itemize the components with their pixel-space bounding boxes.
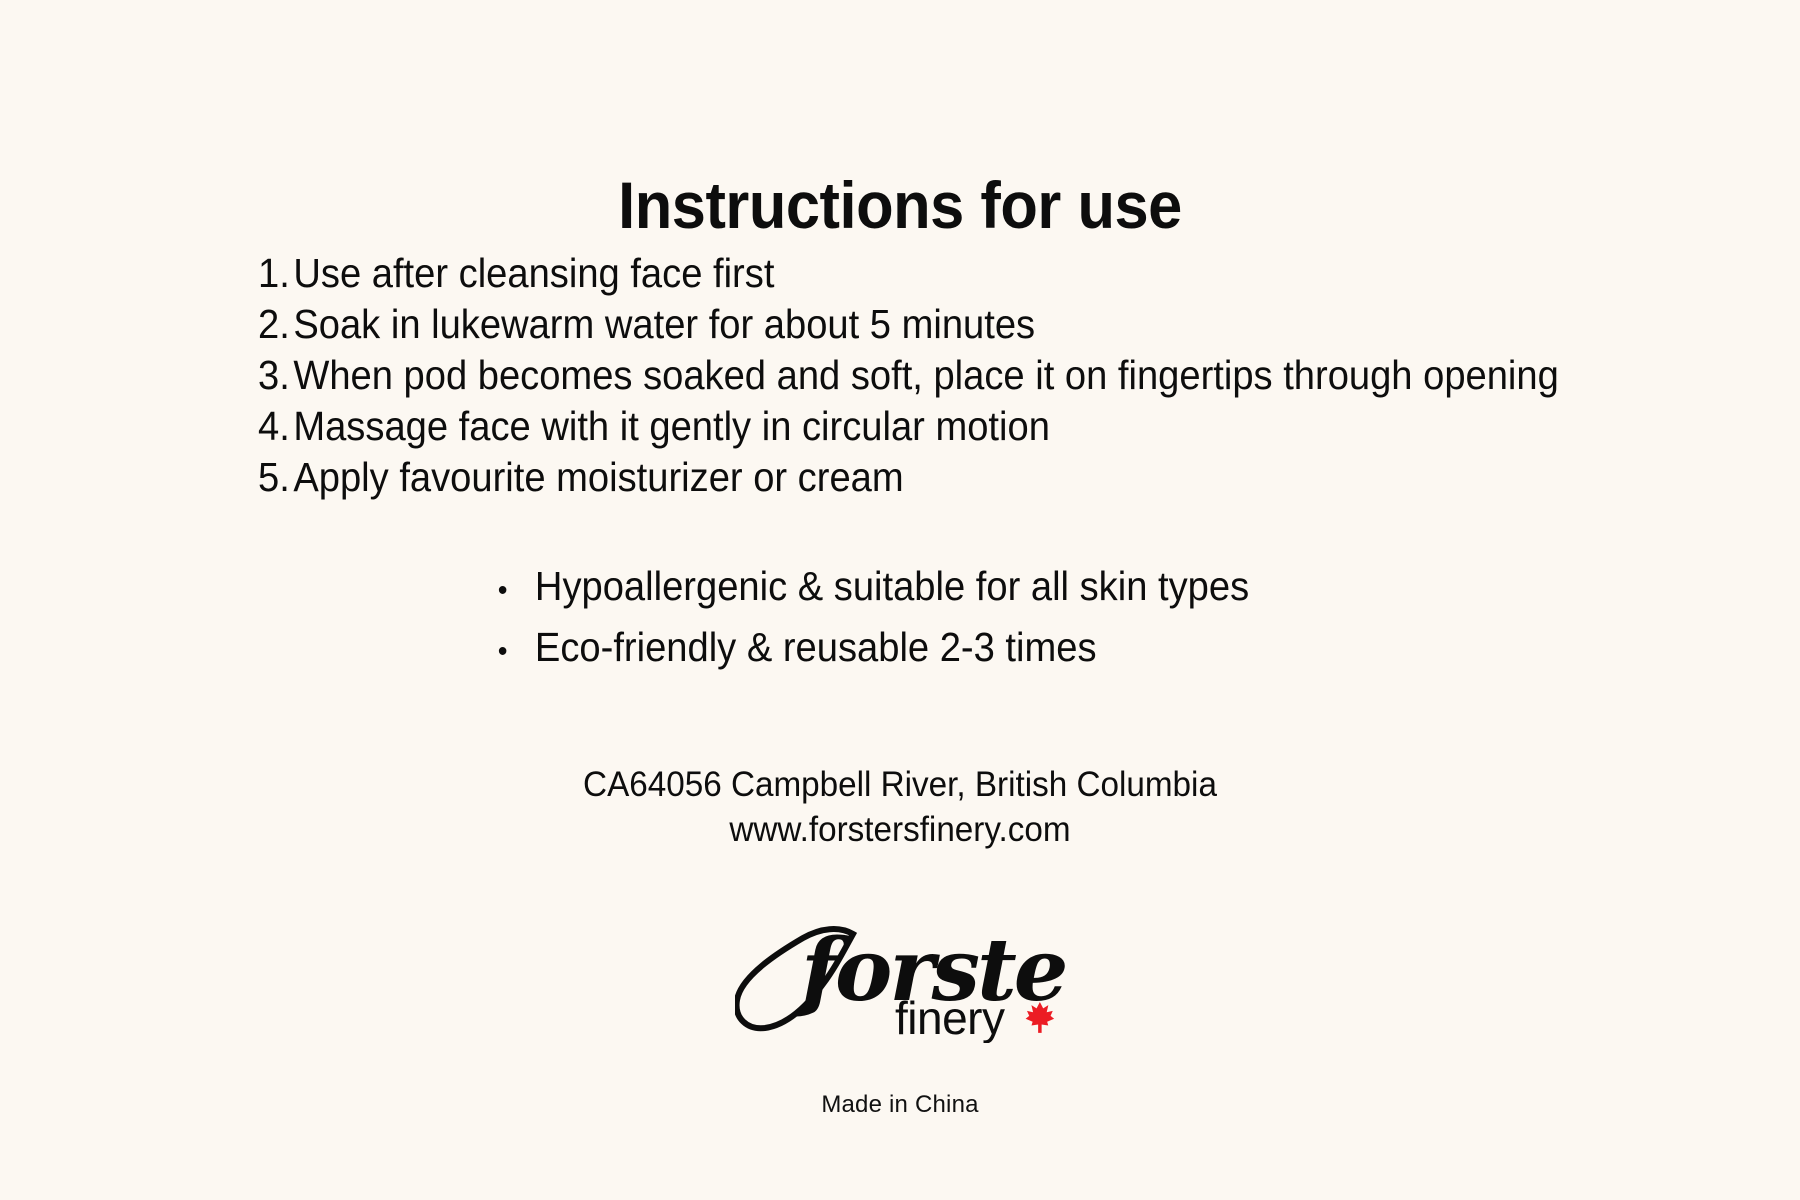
step-number: 1. bbox=[258, 248, 293, 299]
step-text: When pod becomes soaked and soft, place … bbox=[293, 350, 1558, 401]
step-text: Use after cleansing face first bbox=[293, 248, 774, 299]
step-number: 4. bbox=[258, 401, 293, 452]
forsters-finery-logo-icon: forsters finery bbox=[735, 908, 1065, 1043]
bullet-dot-icon: • bbox=[494, 623, 535, 680]
bullet-text: Eco-friendly & reusable 2-3 times bbox=[535, 619, 1097, 676]
address-line-location: CA64056 Campbell River, British Columbia bbox=[45, 762, 1755, 807]
step-text: Apply favourite moisturizer or cream bbox=[293, 452, 903, 503]
instruction-steps-list: 1. Use after cleansing face first 2. Soa… bbox=[258, 248, 1708, 503]
step-text: Soak in lukewarm water for about 5 minut… bbox=[293, 299, 1035, 350]
list-item: 2. Soak in lukewarm water for about 5 mi… bbox=[258, 299, 1607, 350]
feature-bullets-list: • Hypoallergenic & suitable for all skin… bbox=[0, 558, 1800, 680]
list-item: 1. Use after cleansing face first bbox=[258, 248, 1607, 299]
bullet-text: Hypoallergenic & suitable for all skin t… bbox=[535, 558, 1249, 615]
made-in-label: Made in China bbox=[0, 1090, 1800, 1120]
page-title: Instructions for use bbox=[63, 172, 1737, 238]
bullet-dot-icon: • bbox=[494, 562, 535, 619]
step-text: Massage face with it gently in circular … bbox=[293, 401, 1050, 452]
step-number: 3. bbox=[258, 350, 293, 401]
logo-subwordmark: finery bbox=[895, 992, 1005, 1043]
company-address: CA64056 Campbell River, British Columbia… bbox=[45, 762, 1755, 852]
feature-bullets-inner: • Hypoallergenic & suitable for all skin… bbox=[494, 558, 1306, 680]
instructions-page: Instructions for use 1. Use after cleans… bbox=[0, 0, 1800, 1200]
address-line-website: www.forstersfinery.com bbox=[45, 807, 1755, 852]
list-item: 4. Massage face with it gently in circul… bbox=[258, 401, 1607, 452]
step-number: 5. bbox=[258, 452, 293, 503]
step-number: 2. bbox=[258, 299, 293, 350]
list-item: 5. Apply favourite moisturizer or cream bbox=[258, 452, 1607, 503]
list-item: • Hypoallergenic & suitable for all skin… bbox=[494, 558, 1249, 619]
brand-logo: forsters finery bbox=[0, 908, 1800, 1043]
list-item: • Eco-friendly & reusable 2-3 times bbox=[494, 619, 1249, 680]
list-item: 3. When pod becomes soaked and soft, pla… bbox=[258, 350, 1607, 401]
